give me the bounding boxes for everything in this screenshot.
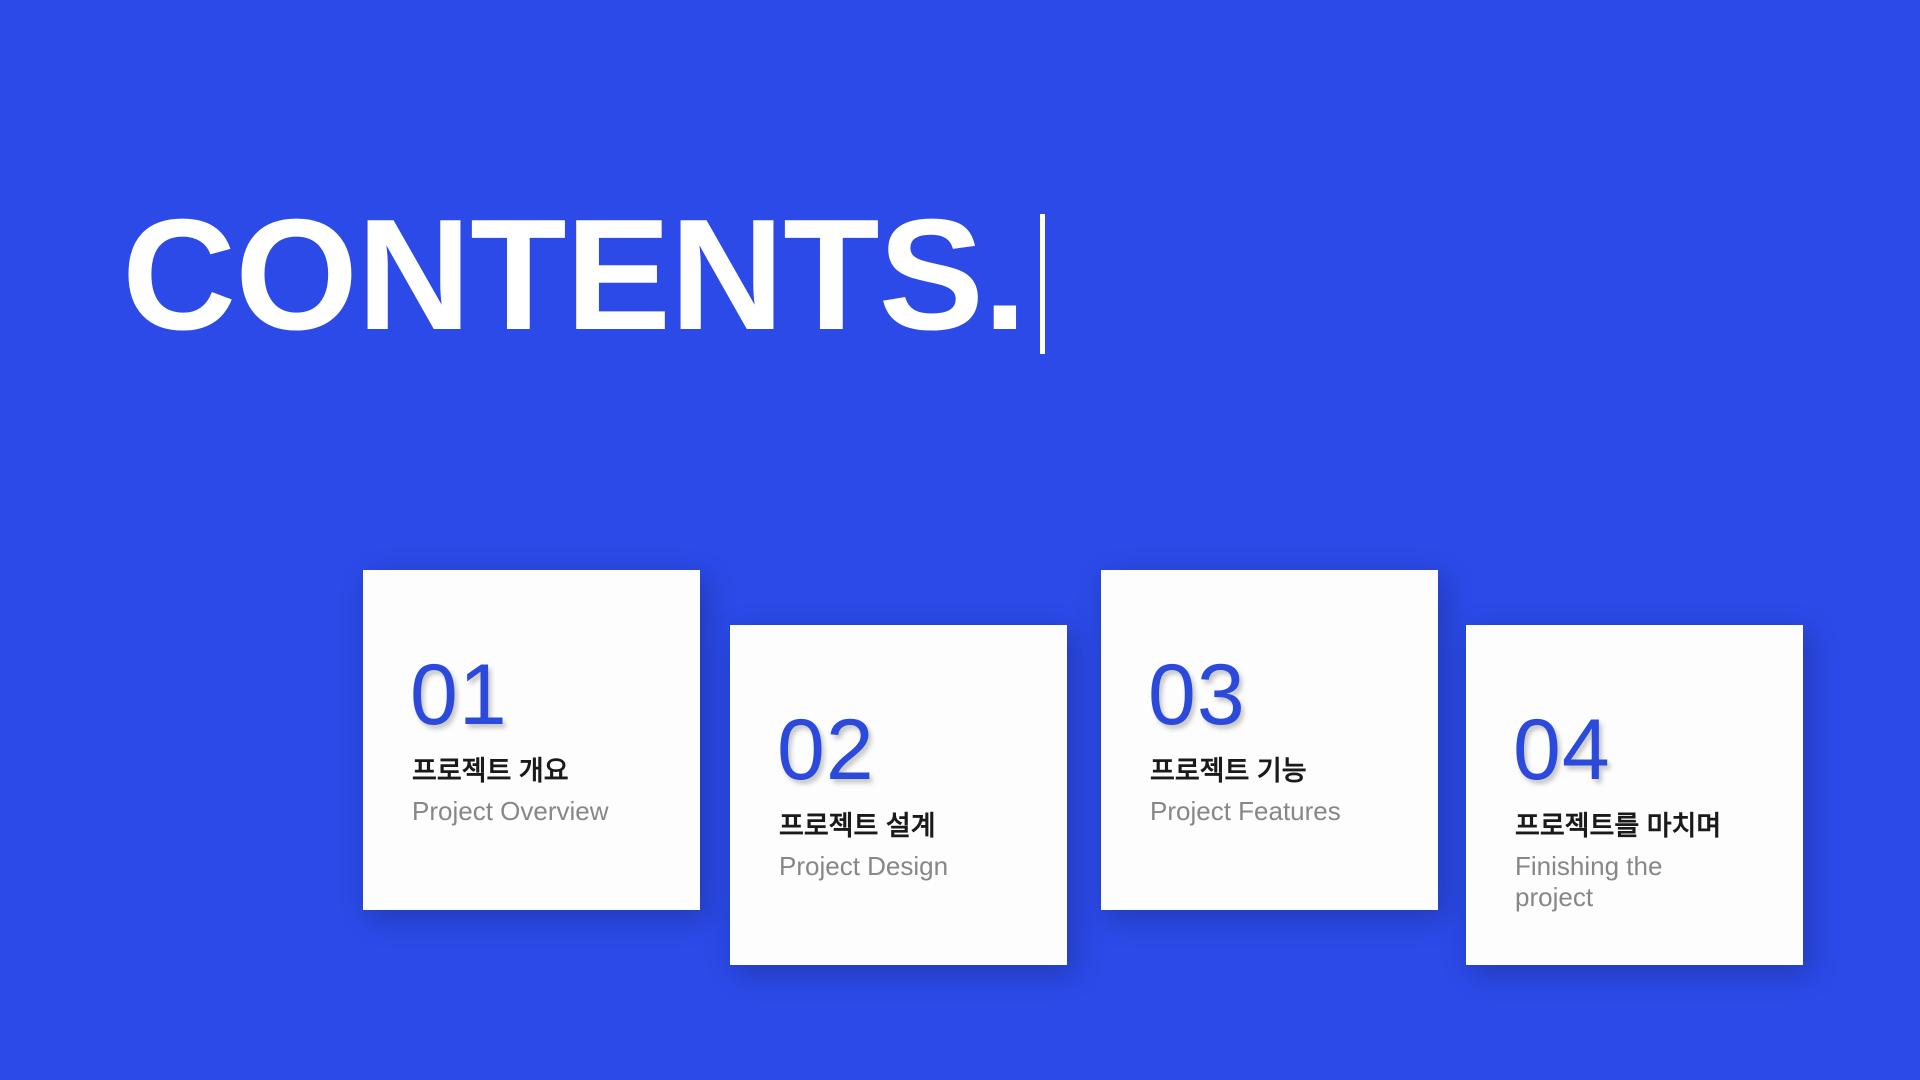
- card-number: 02: [777, 707, 875, 793]
- card-title-ko: 프로젝트 개요: [412, 755, 569, 787]
- card-title-en: Finishing the project: [1515, 851, 1715, 912]
- text-caret-icon: [1040, 214, 1045, 354]
- card-number: 04: [1513, 707, 1611, 793]
- presentation-slide: CONTENTS. 01 프로젝트 개요 Project Overview 02…: [0, 0, 1920, 1080]
- contents-card-03[interactable]: 03 프로젝트 기능 Project Features: [1101, 570, 1438, 910]
- slide-title-block: CONTENTS.: [122, 196, 1045, 354]
- folder-content: 02 프로젝트 설계 Project Design: [730, 625, 1067, 965]
- card-number: 03: [1148, 652, 1246, 738]
- card-title-en: Project Design: [779, 851, 948, 882]
- card-title-ko: 프로젝트를 마치며: [1515, 810, 1721, 842]
- card-title-ko: 프로젝트 기능: [1150, 755, 1307, 787]
- card-title-en: Project Overview: [412, 796, 609, 827]
- card-title-ko: 프로젝트 설계: [779, 810, 936, 842]
- contents-card-04[interactable]: 04 프로젝트를 마치며 Finishing the project: [1466, 625, 1803, 965]
- folder-content: 01 프로젝트 개요 Project Overview: [363, 570, 700, 910]
- contents-card-01[interactable]: 01 프로젝트 개요 Project Overview: [363, 570, 700, 910]
- card-title-en: Project Features: [1150, 796, 1341, 827]
- folder-content: 03 프로젝트 기능 Project Features: [1101, 570, 1438, 910]
- card-number: 01: [410, 652, 508, 738]
- folder-content: 04 프로젝트를 마치며 Finishing the project: [1466, 625, 1803, 965]
- contents-card-02[interactable]: 02 프로젝트 설계 Project Design: [730, 625, 1067, 965]
- page-title: CONTENTS.: [122, 196, 1026, 354]
